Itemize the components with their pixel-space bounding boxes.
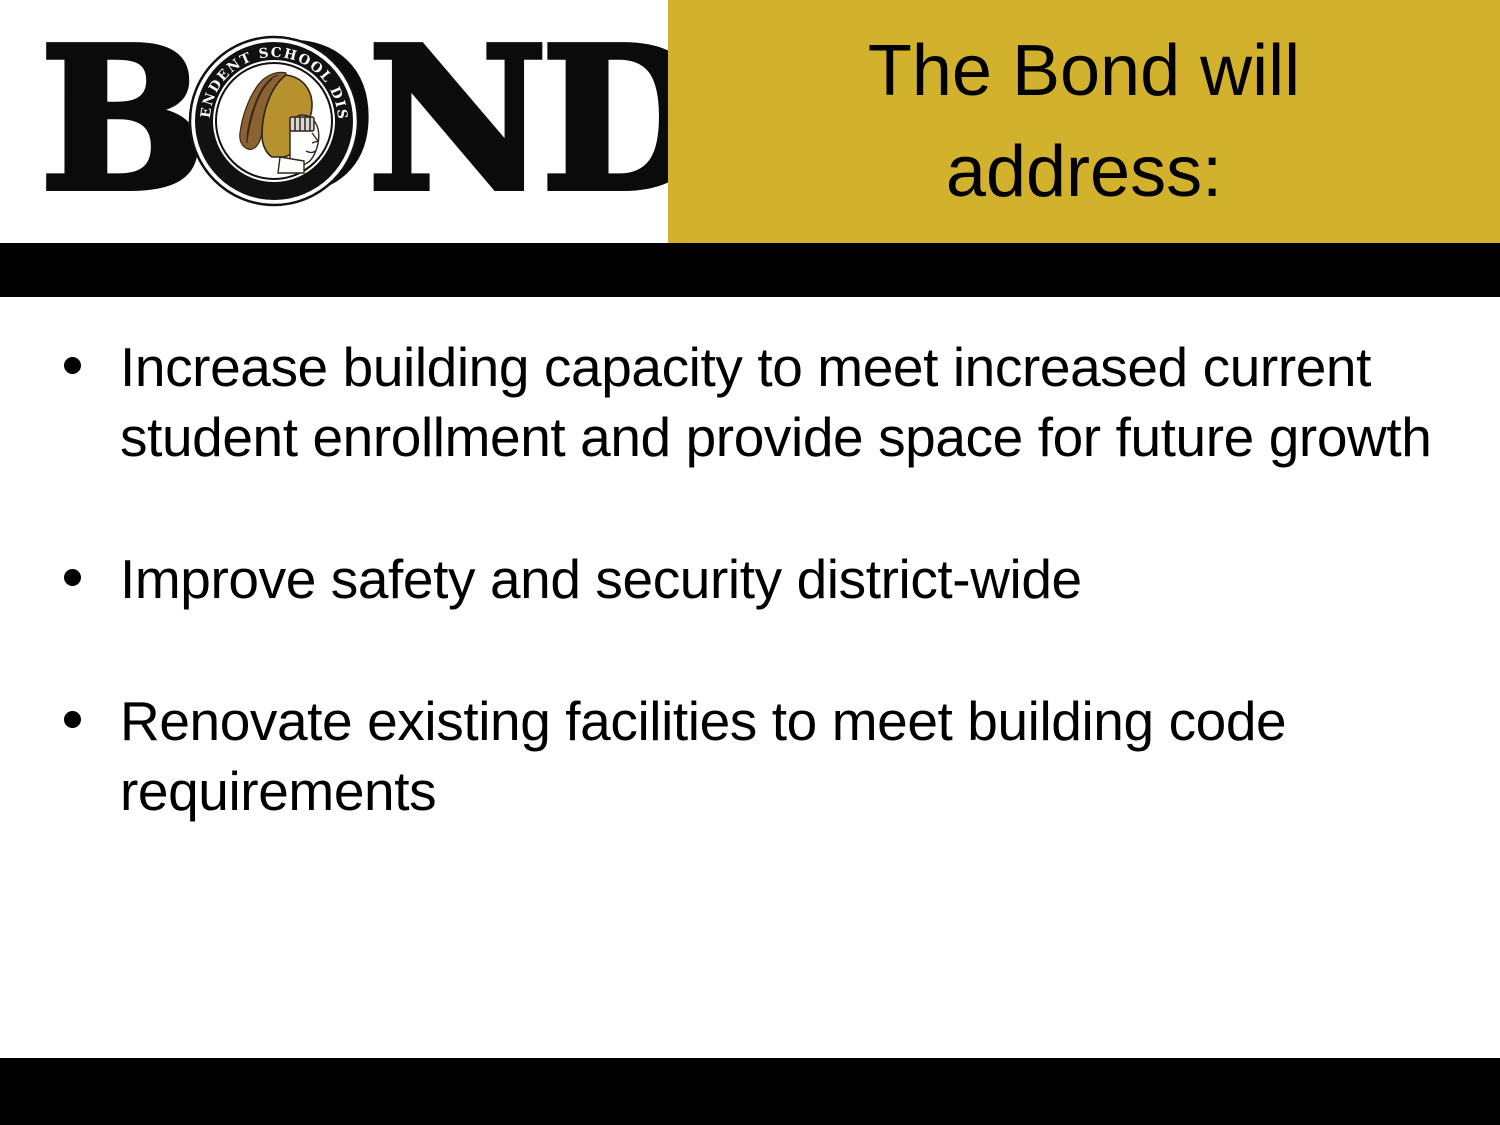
- bullet-dot-icon: [64, 711, 81, 728]
- list-item: Renovate existing facilities to meet bui…: [52, 686, 1462, 826]
- slide-title: The Bond will address:: [668, 21, 1500, 223]
- presentation-slide: BOND INDEPENDENT SCHOOL DISTRI: [0, 0, 1500, 1125]
- header-divider-bar: [0, 243, 1500, 297]
- slide-header: BOND INDEPENDENT SCHOOL DISTRI: [0, 0, 1500, 243]
- district-seal-icon: INDEPENDENT SCHOOL DISTRICT ITALY: [188, 35, 360, 207]
- title-banner: The Bond will address:: [668, 0, 1500, 243]
- bullet-list: Increase building capacity to meet incre…: [52, 332, 1462, 826]
- district-logo: BOND INDEPENDENT SCHOOL DISTRI: [40, 18, 640, 223]
- list-item-text: Renovate existing facilities to meet bui…: [120, 686, 1462, 826]
- bullet-dot-icon: [64, 569, 81, 586]
- logo-zone: BOND INDEPENDENT SCHOOL DISTRI: [0, 0, 668, 243]
- list-item-text: Improve safety and security district-wid…: [120, 544, 1462, 614]
- slide-body: Increase building capacity to meet incre…: [0, 297, 1500, 1058]
- bullet-dot-icon: [64, 357, 81, 374]
- list-item: Increase building capacity to meet incre…: [52, 332, 1462, 472]
- footer-bar: [0, 1058, 1500, 1125]
- list-item: Improve safety and security district-wid…: [52, 544, 1462, 614]
- list-item-text: Increase building capacity to meet incre…: [120, 332, 1462, 472]
